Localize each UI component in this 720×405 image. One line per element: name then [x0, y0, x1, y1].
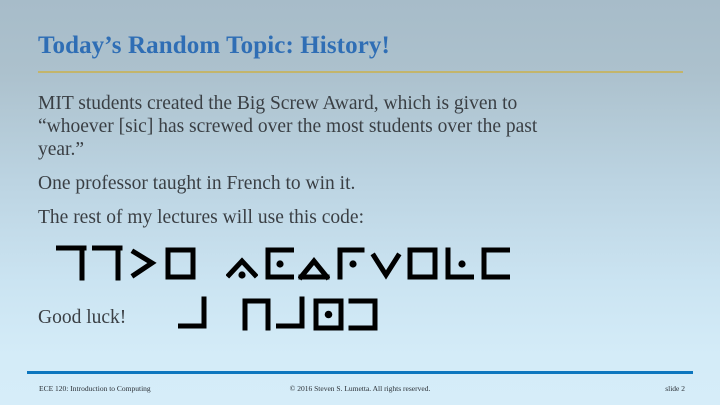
footer-divider — [27, 371, 693, 374]
good-luck-label: Good luck! — [38, 307, 126, 329]
chevron-up-dot-icon — [298, 242, 330, 282]
cipher-word-2 — [226, 242, 514, 282]
title-divider — [38, 71, 683, 73]
square-icon — [164, 242, 196, 282]
cipher-line-1 — [56, 242, 514, 282]
body-paragraph-1: MIT students created the Big Screw Award… — [38, 92, 538, 161]
corner-top-right-icon — [92, 242, 124, 282]
chevron-right-icon — [128, 242, 160, 282]
square-dot-icon — [312, 293, 344, 333]
slide-footer: ECE 120: Introduction to Computing © 201… — [27, 381, 693, 397]
bracket-top-icon — [240, 293, 272, 333]
slide-body: MIT students created the Big Screw Award… — [38, 92, 538, 235]
bracket-left-dot-icon — [262, 242, 294, 282]
corner-bottom-right-icon — [178, 293, 210, 333]
corner-top-right-icon — [56, 242, 88, 282]
cipher-code-block — [38, 238, 682, 348]
cipher-word-1 — [56, 242, 200, 282]
footer-slide-number: slide 2 — [665, 384, 685, 393]
cipher-word-4 — [240, 293, 384, 333]
corner-bottom-left-dot-icon — [442, 242, 474, 282]
corner-top-left-dot-icon — [334, 242, 366, 282]
body-paragraph-3: The rest of my lectures will use this co… — [38, 206, 538, 229]
chevron-down-icon — [370, 242, 402, 282]
corner-bottom-right-icon — [276, 293, 308, 333]
chevron-up-dot-icon — [226, 242, 258, 282]
cipher-line-2 — [178, 293, 384, 333]
square-icon — [406, 242, 438, 282]
page-title: Today’s Random Topic: History! — [38, 32, 390, 60]
cipher-word-3 — [178, 293, 214, 333]
slide-canvas: Today’s Random Topic: History! MIT stude… — [0, 0, 720, 405]
footer-copyright-label: © 2016 Steven S. Lumetta. All rights res… — [27, 384, 693, 393]
bracket-left-icon — [478, 242, 510, 282]
bracket-right-icon — [348, 293, 380, 333]
body-paragraph-2: One professor taught in French to win it… — [38, 172, 538, 195]
